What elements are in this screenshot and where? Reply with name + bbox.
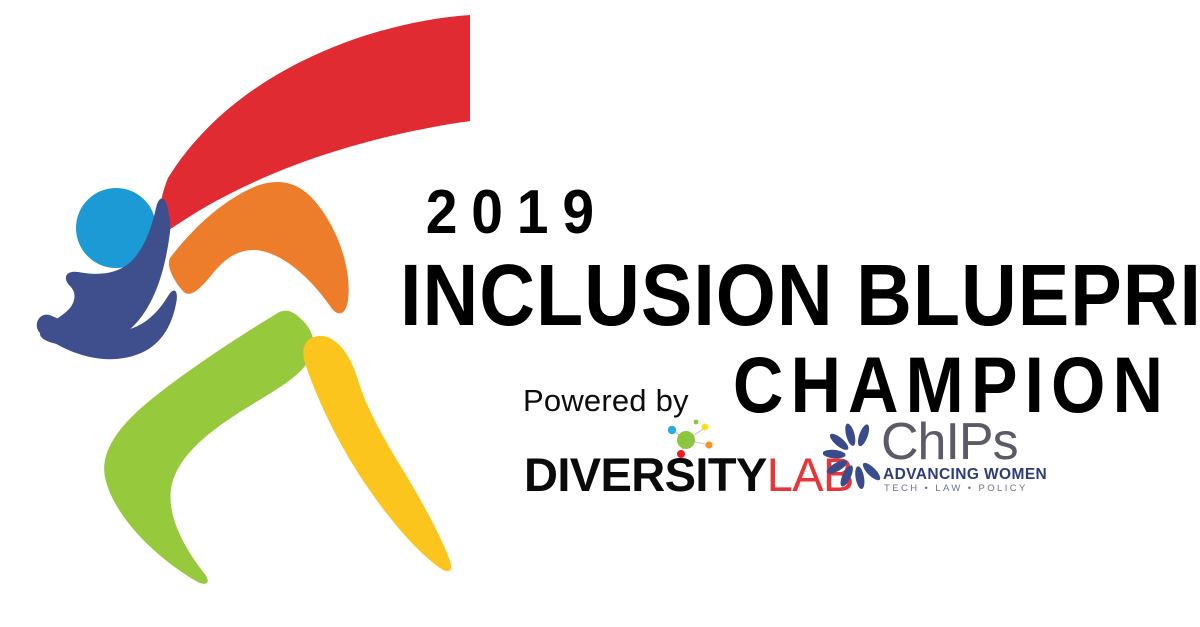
title-line-2: CHAMPION <box>400 346 1170 424</box>
diversity-lab-word-primary: DIVERSITY <box>524 448 767 501</box>
diversity-lab-logo[interactable]: DIVERSITYLAB <box>524 418 809 498</box>
chips-tagline-1: ADVANCING WOMEN <box>883 466 1047 484</box>
powered-by-label: Powered by <box>523 383 689 419</box>
chips-logo[interactable]: ChIPs ADVANCING WOMEN TECH • LAW • POLIC… <box>823 418 1028 498</box>
title-line-1: INCLUSION BLUEPRINT <box>400 251 1162 338</box>
inclusion-blueprint-champion-badge: 2019 INCLUSION BLUEPRINT CHAMPION Powere… <box>0 0 1200 627</box>
diversity-lab-wordmark: DIVERSITYLAB <box>524 451 854 498</box>
chips-petal-ring-icon <box>823 422 889 490</box>
title-block: 2019 INCLUSION BLUEPRINT CHAMPION <box>400 182 1170 420</box>
chips-wordmark: ChIPs <box>881 416 1018 468</box>
chips-tagline-2: TECH • LAW • POLICY <box>884 483 1028 494</box>
sponsor-logo-row: DIVERSITYLAB ChIPs ADVANCING WOMEN TECH <box>524 418 1028 498</box>
title-year: 2019 <box>400 182 1108 244</box>
